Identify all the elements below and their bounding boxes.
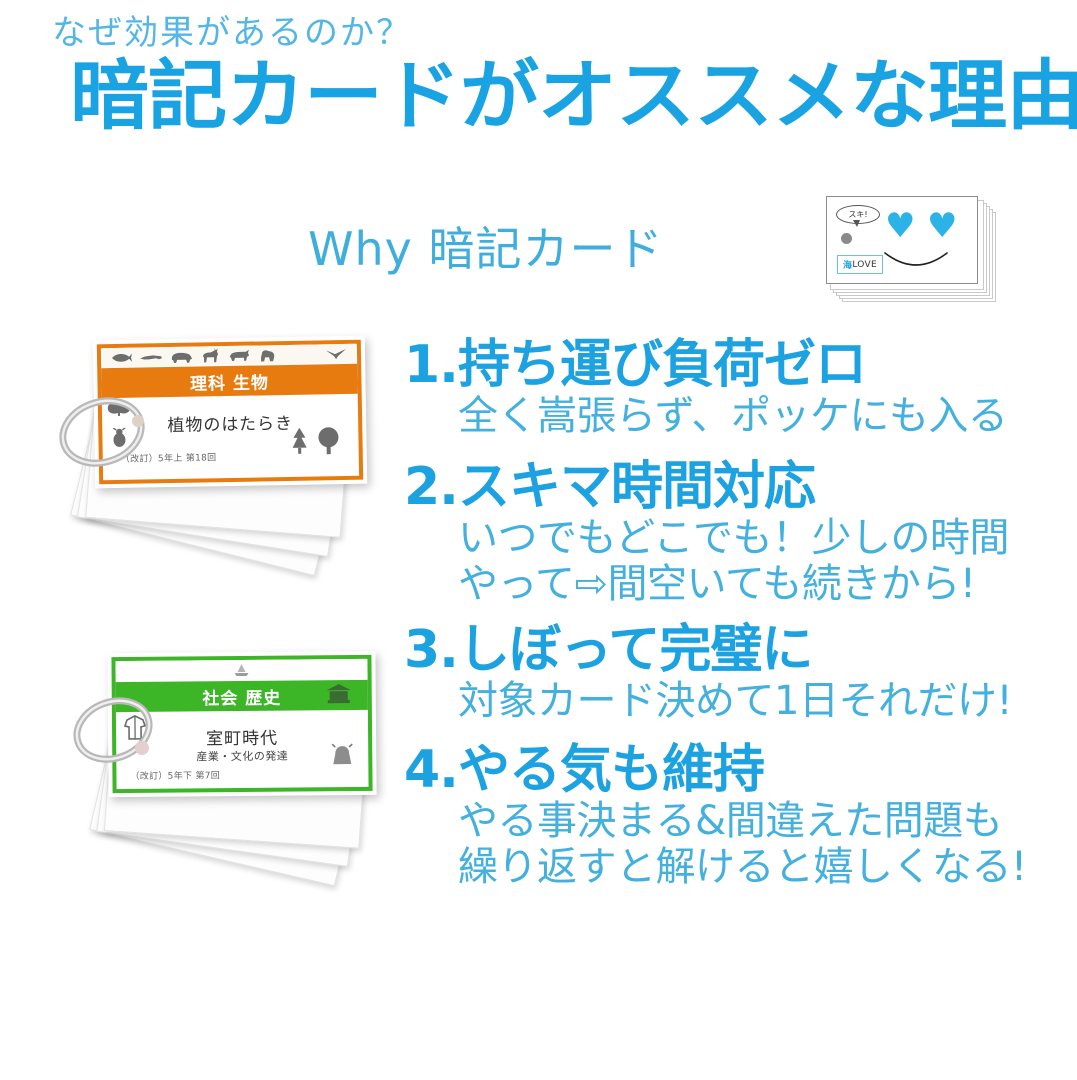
tiger-silhouette-icon <box>227 349 251 362</box>
reason-item-3: 3.しぼって完璧に 対象カード決めて1日それだけ! <box>404 621 1044 725</box>
reason-4-number: 4. <box>404 740 458 800</box>
reason-3-number: 3. <box>404 620 458 680</box>
fish-silhouette-icon <box>111 352 133 363</box>
science-subject-label: 理科 生物 <box>190 368 269 394</box>
broadleaf-tree-icon <box>316 426 340 454</box>
binder-ring-icon <box>68 688 158 776</box>
reason-1-number: 1. <box>404 335 458 395</box>
reason-4-desc-line-1: やる事決まる&間違えた問題も <box>404 799 1044 845</box>
reason-2-title: 2.スキマ時間対応 <box>404 458 1044 516</box>
reason-1-text: 持ち運び負荷ゼロ <box>458 335 866 395</box>
reason-4-desc-line-2: 繰り返すと解けると嬉しくなる! <box>404 845 1044 891</box>
smiley-card-stack: スキ! 海LOVE ♥ ♥ <box>826 196 1026 316</box>
reason-3-text: しぼって完璧に <box>458 620 812 680</box>
reason-item-1: 1.持ち運び負荷ゼロ 全く嵩張らず、ポッケにも入る <box>404 336 1044 440</box>
social-card-stack: 社会 歴史 室町時代 産業・文化の発達 （改訂）5年下 第7回 <box>62 642 412 932</box>
reason-2-number: 2. <box>404 457 458 517</box>
reason-list: 1.持ち運び負荷ゼロ 全く嵩張らず、ポッケにも入る 2.スキマ時間対応 いつでも… <box>404 336 1044 897</box>
why-label: Why 暗記カード <box>308 226 663 272</box>
reason-2-desc-line-2: やって⇨間空いても続きから! <box>404 562 1044 608</box>
reason-3-desc-line-1: 対象カード決めて1日それだけ! <box>404 679 1044 725</box>
reason-2-text: スキマ時間対応 <box>458 457 815 517</box>
heart-eye-left-icon: ♥ <box>885 209 915 243</box>
smile-arc-icon <box>883 251 949 273</box>
temple-icon <box>326 683 352 705</box>
tag-kanji: 海 <box>843 258 852 271</box>
reason-4-title: 4.やる気も維持 <box>404 741 1044 799</box>
reason-1-desc-line-1: 全く嵩張らず、ポッケにも入る <box>404 394 1044 440</box>
social-subject-label: 社会 歴史 <box>202 683 281 709</box>
reason-item-2: 2.スキマ時間対応 いつでもどこでも！少しの時間 やって⇨間空いても続きから! <box>404 458 1044 607</box>
gray-dot-icon <box>841 233 852 244</box>
hippo-silhouette-icon <box>169 349 193 363</box>
gorilla-silhouette-icon <box>257 348 277 362</box>
reason-2-desc-line-1: いつでもどこでも！少しの時間 <box>404 516 1044 562</box>
infographic-canvas: なぜ効果があるのか？ 暗記カードがオススメな理由 Why 暗記カード スキ! 海… <box>0 0 1077 1080</box>
science-card-stack: 理科 生物 植物のはたらき （改訂）5年上 第18回 <box>46 330 406 630</box>
page-title: 暗記カードがオススメな理由 <box>70 58 1077 134</box>
reason-4-text: やる気も維持 <box>458 740 764 800</box>
reason-1-title: 1.持ち運び負荷ゼロ <box>404 336 1044 394</box>
reason-item-4: 4.やる気も維持 やる事決まる&間違えた問題も 繰り返すと解けると嬉しくなる! <box>404 741 1044 890</box>
speech-bubble-tail <box>853 220 860 227</box>
ship-icon <box>232 663 250 677</box>
heart-eye-right-icon: ♥ <box>927 209 957 243</box>
crocodile-silhouette-icon <box>139 353 163 361</box>
love-tag: 海LOVE <box>837 255 883 274</box>
bird-silhouette-icon <box>325 347 347 359</box>
smiley-card-face: スキ! 海LOVE ♥ ♥ <box>826 196 978 284</box>
deer-silhouette-icon <box>199 348 221 363</box>
binder-ring-icon <box>54 388 150 480</box>
kicker-text: なぜ効果があるのか？ <box>52 16 412 50</box>
ship-strip <box>117 659 365 681</box>
reason-3-title: 3.しぼって完璧に <box>404 621 1044 679</box>
tag-text: LOVE <box>852 260 877 270</box>
armor-icon <box>330 743 354 767</box>
conifer-tree-icon <box>290 427 308 455</box>
